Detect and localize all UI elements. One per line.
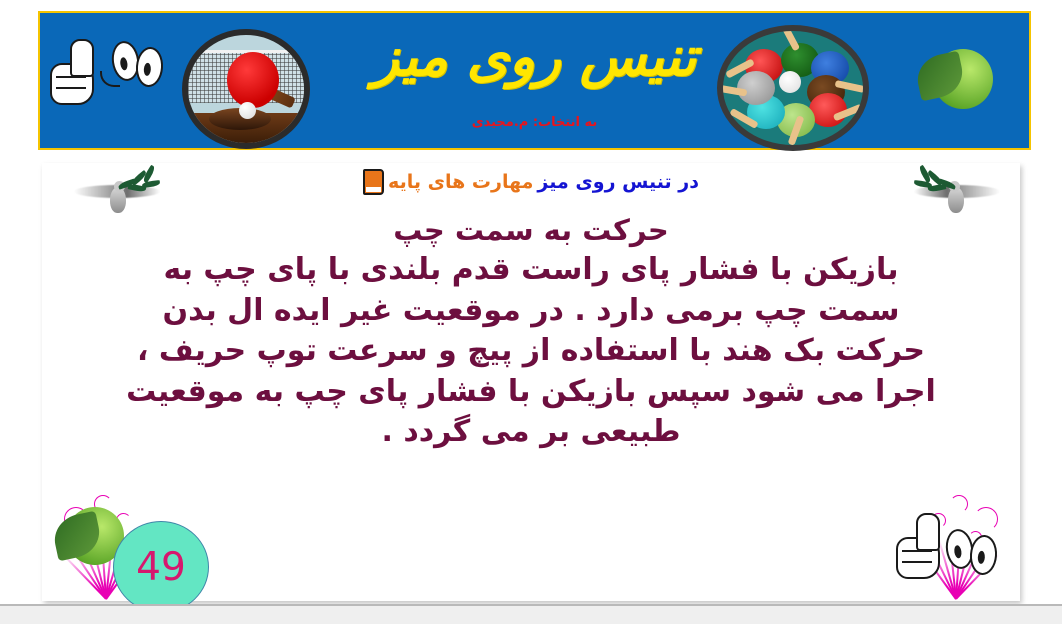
body-line: اجرا می شود سپس بازیکن با فشار پای چپ به… (54, 372, 1008, 413)
thumbs-up-icon (894, 511, 950, 591)
banner-subtitle: به انتخاب: م.مجیدی (40, 115, 1029, 130)
body-line: طبیعی بر می گردد . (54, 412, 1008, 453)
slide-root: تنیس روی میز به انتخاب: م.مجیدی (0, 0, 1062, 624)
body-line: بازیکن با فشار پای راست قدم بلندی با پای… (54, 250, 1008, 291)
bottom-strip (0, 606, 1062, 624)
green-apple-icon (917, 45, 993, 113)
orange-book-icon (363, 169, 384, 195)
page-number-value: 49 (136, 545, 186, 590)
body-line: سمت چپ برمی دارد . در موقعیت غیر ایده ال… (54, 291, 1008, 332)
body-text: حرکت به سمت چپ بازیکن با فشار پای راست ق… (54, 211, 1008, 453)
banner-title: تنیس روی میز (40, 27, 1029, 86)
cartoon-eyes-icon (946, 525, 1002, 583)
body-line: حرکت بک هند با استفاده از پیچ و سرعت توپ… (54, 331, 1008, 372)
section-heading-orange: مهارت های پایه (388, 171, 533, 193)
page-number-badge: 49 (113, 521, 209, 613)
header-banner: تنیس روی میز به انتخاب: م.مجیدی (38, 11, 1031, 150)
section-heading: مهارت های پایه در تنیس روی میز (42, 169, 1020, 195)
section-heading-blue: در تنیس روی میز (537, 171, 699, 193)
colorful-paddles-photo (717, 25, 869, 151)
body-line: حرکت به سمت چپ (54, 211, 1008, 250)
